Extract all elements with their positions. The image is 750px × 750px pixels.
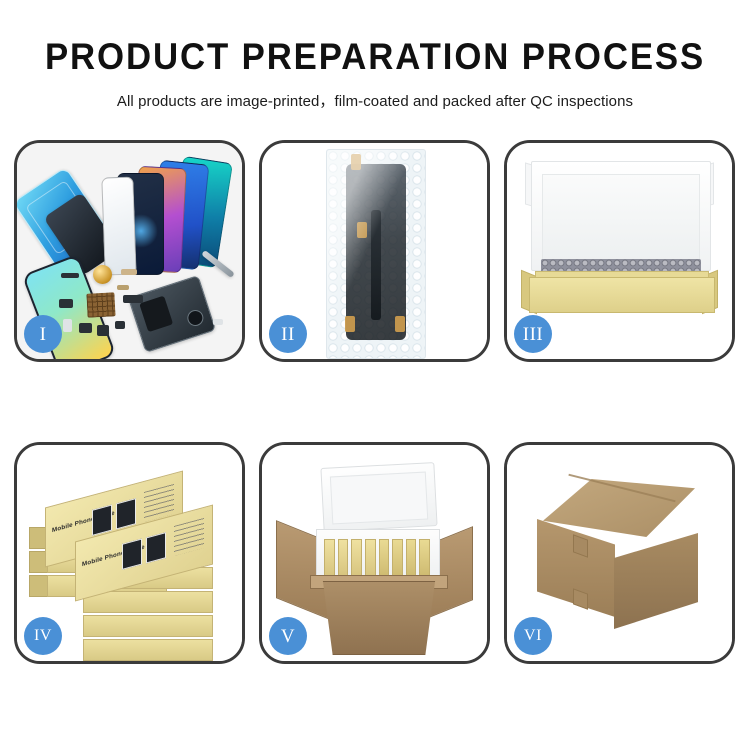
step-numeral-6: VI xyxy=(524,628,542,644)
box-window-c xyxy=(122,539,142,570)
small-part-8 xyxy=(97,325,109,336)
yellow-box-front xyxy=(529,277,715,313)
process-step-3[interactable]: III xyxy=(504,140,735,362)
step-badge-1: I xyxy=(24,315,62,353)
stack-face-7 xyxy=(83,639,213,661)
retail-box xyxy=(365,539,376,579)
small-part-9 xyxy=(115,321,125,329)
step-numeral-4: IV xyxy=(34,628,52,644)
process-step-grid: I II xyxy=(14,140,736,664)
page-title: PRODUCT PREPARATION PROCESS xyxy=(23,38,728,75)
yellow-retail-boxes xyxy=(324,539,430,579)
retail-box xyxy=(406,539,417,579)
retail-box xyxy=(351,539,362,579)
process-step-1[interactable]: I xyxy=(14,140,245,362)
step-numeral-3: III xyxy=(523,325,543,344)
retail-box xyxy=(338,539,349,579)
step-badge-4: IV xyxy=(24,617,62,655)
gold-coil-part xyxy=(93,265,112,284)
process-step-5[interactable]: V xyxy=(259,442,490,664)
step-badge-6: VI xyxy=(514,617,552,655)
small-part-6 xyxy=(63,319,72,332)
carton-body xyxy=(318,581,440,655)
small-part-2 xyxy=(121,269,137,275)
step-numeral-5: V xyxy=(281,627,295,646)
small-part-3 xyxy=(117,285,129,290)
stack-face-6 xyxy=(83,615,213,637)
process-step-4[interactable]: Mobile Phone Spare Parts Mobile Phone Sp… xyxy=(14,442,245,664)
step-numeral-1: I xyxy=(40,325,47,344)
retail-box xyxy=(392,539,403,579)
carton-right-face xyxy=(614,533,698,629)
process-step-2[interactable]: II xyxy=(259,140,490,362)
retail-box xyxy=(379,539,390,579)
small-part-10 xyxy=(213,319,223,325)
header: PRODUCT PREPARATION PROCESS All products… xyxy=(0,0,750,111)
small-part-7 xyxy=(79,323,92,333)
step-badge-2: II xyxy=(269,315,307,353)
product-preparation-infographic: PRODUCT PREPARATION PROCESS All products… xyxy=(0,0,750,750)
small-part-1 xyxy=(61,273,79,278)
foam-lid xyxy=(531,161,711,271)
stack-face-5 xyxy=(83,591,213,613)
small-part-5 xyxy=(123,295,143,303)
phone-back-chassis xyxy=(128,275,216,353)
step-badge-3: III xyxy=(514,315,552,353)
box-window-d xyxy=(146,532,166,563)
process-step-6[interactable]: VI xyxy=(504,442,735,664)
step-badge-5: V xyxy=(269,617,307,655)
box-spec-lines-second xyxy=(174,518,204,556)
step-numeral-2: II xyxy=(281,325,295,344)
glass-panel xyxy=(101,176,136,275)
foam-box-lid xyxy=(320,462,437,532)
bag-gloss-highlight xyxy=(327,150,425,358)
small-part-4 xyxy=(59,299,73,308)
retail-box xyxy=(324,539,335,579)
box-stack: Mobile Phone Spare Parts Mobile Phone Sp… xyxy=(29,471,234,647)
retail-box xyxy=(419,539,430,579)
bubble-wrap-bag xyxy=(326,149,426,359)
page-subtitle: All products are image-printed，film-coat… xyxy=(6,89,745,111)
chip-grid-part xyxy=(86,292,115,317)
